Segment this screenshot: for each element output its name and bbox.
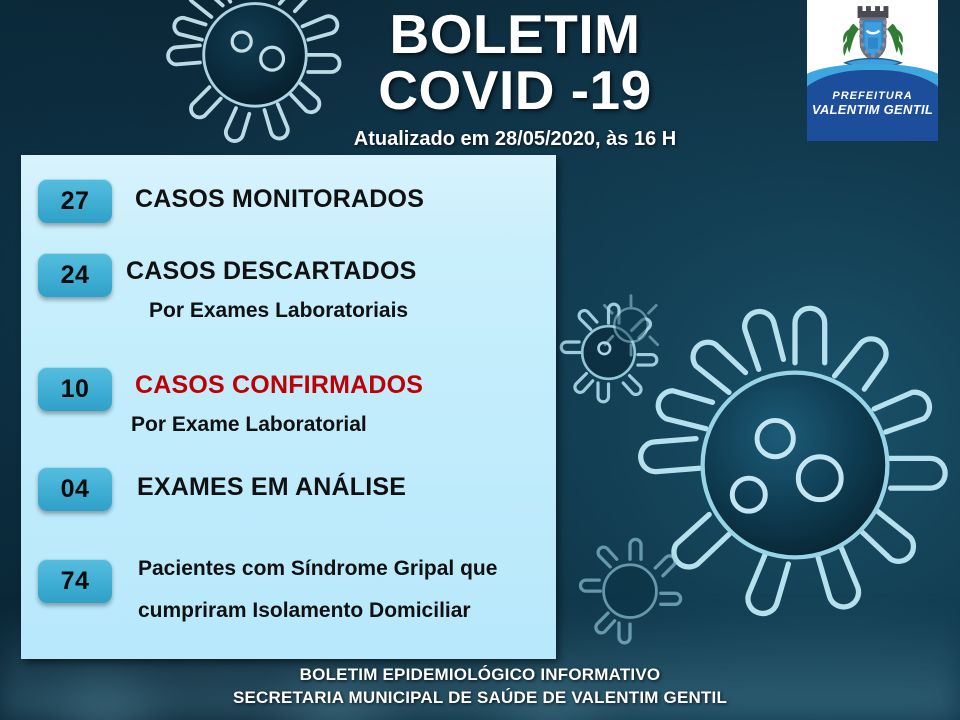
stat-row: 74 Pacientes com Síndrome Gripal que cum… xyxy=(21,549,556,645)
prefeitura-logo: PREFEITURA VALENTIM GENTIL xyxy=(807,0,938,141)
stat-sublabel: cumpriram Isolamento Domiciliar xyxy=(138,599,471,623)
stat-label: CASOS CONFIRMADOS xyxy=(135,371,423,400)
stat-row: 04 EXAMES EM ANÁLISE xyxy=(21,461,556,523)
stat-count-badge: 04 xyxy=(38,467,112,511)
last-updated-text: Atualizado em 28/05/2020, às 16 H xyxy=(300,128,730,151)
stat-label: CASOS MONITORADOS xyxy=(135,185,424,214)
stat-count-badge: 24 xyxy=(38,253,112,297)
stat-row: 27 CASOS MONITORADOS xyxy=(21,173,556,235)
title-line-1: BOLETIM xyxy=(390,3,641,65)
logo-line-2: VALENTIM GENTIL xyxy=(807,103,938,118)
stat-row: 10 CASOS CONFIRMADOS Por Exame Laborator… xyxy=(21,361,556,451)
stats-panel: 27 CASOS MONITORADOS 24 CASOS DESCARTADO… xyxy=(21,155,556,659)
logo-line-1: PREFEITURA xyxy=(807,90,938,103)
logo-text: PREFEITURA VALENTIM GENTIL xyxy=(807,90,938,118)
title-line-2: COVID -19 xyxy=(300,62,730,118)
stat-label: Pacientes com Síndrome Gripal que xyxy=(138,557,497,581)
stat-sublabel: Por Exame Laboratorial xyxy=(131,413,367,437)
stat-label: CASOS DESCARTADOS xyxy=(126,257,416,286)
stat-count-badge: 74 xyxy=(38,559,112,603)
stat-row: 24 CASOS DESCARTADOS Por Exames Laborato… xyxy=(21,247,556,337)
footer-line-1: BOLETIM EPIDEMIOLÓGICO INFORMATIVO xyxy=(0,664,960,687)
stat-count-badge: 27 xyxy=(38,179,112,223)
coronavirus-icon xyxy=(596,290,666,360)
page-title: BOLETIM COVID -19 xyxy=(300,6,730,118)
stat-count-badge: 10 xyxy=(38,367,112,411)
coronavirus-icon xyxy=(575,535,685,645)
stat-label: EXAMES EM ANÁLISE xyxy=(137,473,406,502)
footer-line-2: SECRETARIA MUNICIPAL DE SAÚDE DE VALENTI… xyxy=(0,687,960,710)
footer: BOLETIM EPIDEMIOLÓGICO INFORMATIVO SECRE… xyxy=(0,664,960,710)
stat-sublabel: Por Exames Laboratoriais xyxy=(149,299,408,323)
covid-bulletin-poster: BOLETIM COVID -19 Atualizado em 28/05/20… xyxy=(0,0,960,720)
